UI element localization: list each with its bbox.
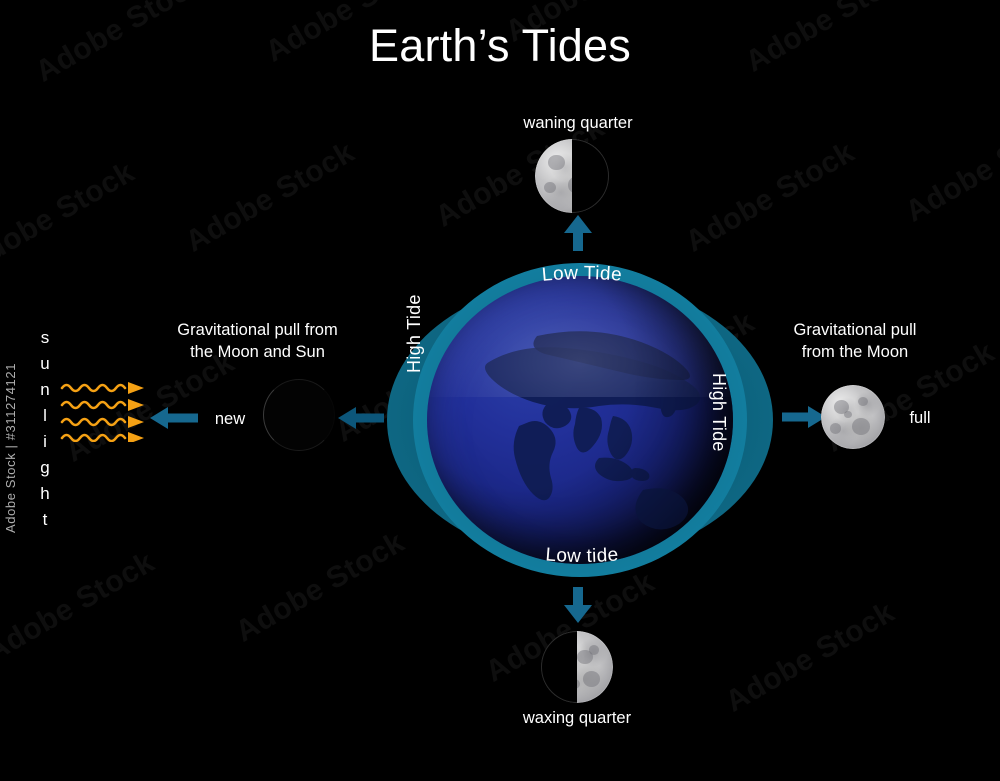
stock-caption: Adobe Stock | #311274121 bbox=[3, 363, 18, 533]
low-tide-bottom-text: Low tide bbox=[545, 544, 620, 567]
waxing-quarter-label: waxing quarter bbox=[452, 708, 702, 730]
watermark-text: Adobe Stock bbox=[0, 546, 161, 670]
sunlight-letter: u bbox=[34, 351, 56, 377]
moon-full bbox=[821, 385, 885, 449]
sunlight-letter: l bbox=[34, 403, 56, 429]
gravity-left-label: Gravitational pull from the Moon and Sun bbox=[150, 320, 365, 364]
sunlight-letter: h bbox=[34, 481, 56, 507]
page-title: Earth’s Tides bbox=[0, 21, 1000, 71]
sunlight-label: s u n l i g h t bbox=[34, 325, 56, 533]
gravity-right-label: Gravitational pull from the Moon bbox=[760, 320, 950, 364]
moon-new bbox=[263, 379, 335, 451]
earth-globe bbox=[427, 276, 733, 564]
sunlight-rays-icon bbox=[60, 380, 148, 447]
moon-outline bbox=[541, 631, 613, 703]
watermark-text: Adobe Stock bbox=[680, 136, 861, 260]
high-tide-right-label: High Tide bbox=[708, 373, 729, 452]
arrow-up-icon bbox=[561, 213, 595, 258]
waning-quarter-label: waning quarter bbox=[453, 113, 703, 135]
watermark-text: Adobe Stock bbox=[0, 156, 141, 280]
watermark-text: Adobe Stock bbox=[230, 526, 411, 650]
arrow-left-inner-icon bbox=[336, 404, 386, 437]
low-tide-bottom-label: Low tide bbox=[442, 530, 722, 589]
moon-waning-quarter bbox=[535, 139, 609, 213]
continents-icon bbox=[427, 276, 733, 564]
sunlight-letter: n bbox=[34, 377, 56, 403]
diagram-canvas: Adobe Stock Adobe Stock Adobe Stock Adob… bbox=[0, 0, 1000, 781]
low-tide-top-label: Low Tide bbox=[442, 256, 722, 315]
watermark-text: Adobe Stock bbox=[720, 596, 901, 720]
sunlight-letter: i bbox=[34, 429, 56, 455]
sunlight-letter: g bbox=[34, 455, 56, 481]
sunlight-letter: s bbox=[34, 325, 56, 351]
full-moon-label: full bbox=[880, 408, 960, 430]
moon-waxing-quarter bbox=[541, 631, 613, 703]
watermark-text: Adobe Stock bbox=[900, 106, 1000, 230]
moon-outline bbox=[821, 385, 885, 449]
high-tide-left-label: High Tide bbox=[404, 294, 425, 373]
watermark-text: Adobe Stock bbox=[180, 136, 361, 260]
moon-outline bbox=[535, 139, 609, 213]
low-tide-top-text: Low Tide bbox=[541, 263, 623, 286]
sunlight-letter: t bbox=[34, 507, 56, 533]
arrow-down-icon bbox=[561, 585, 595, 630]
